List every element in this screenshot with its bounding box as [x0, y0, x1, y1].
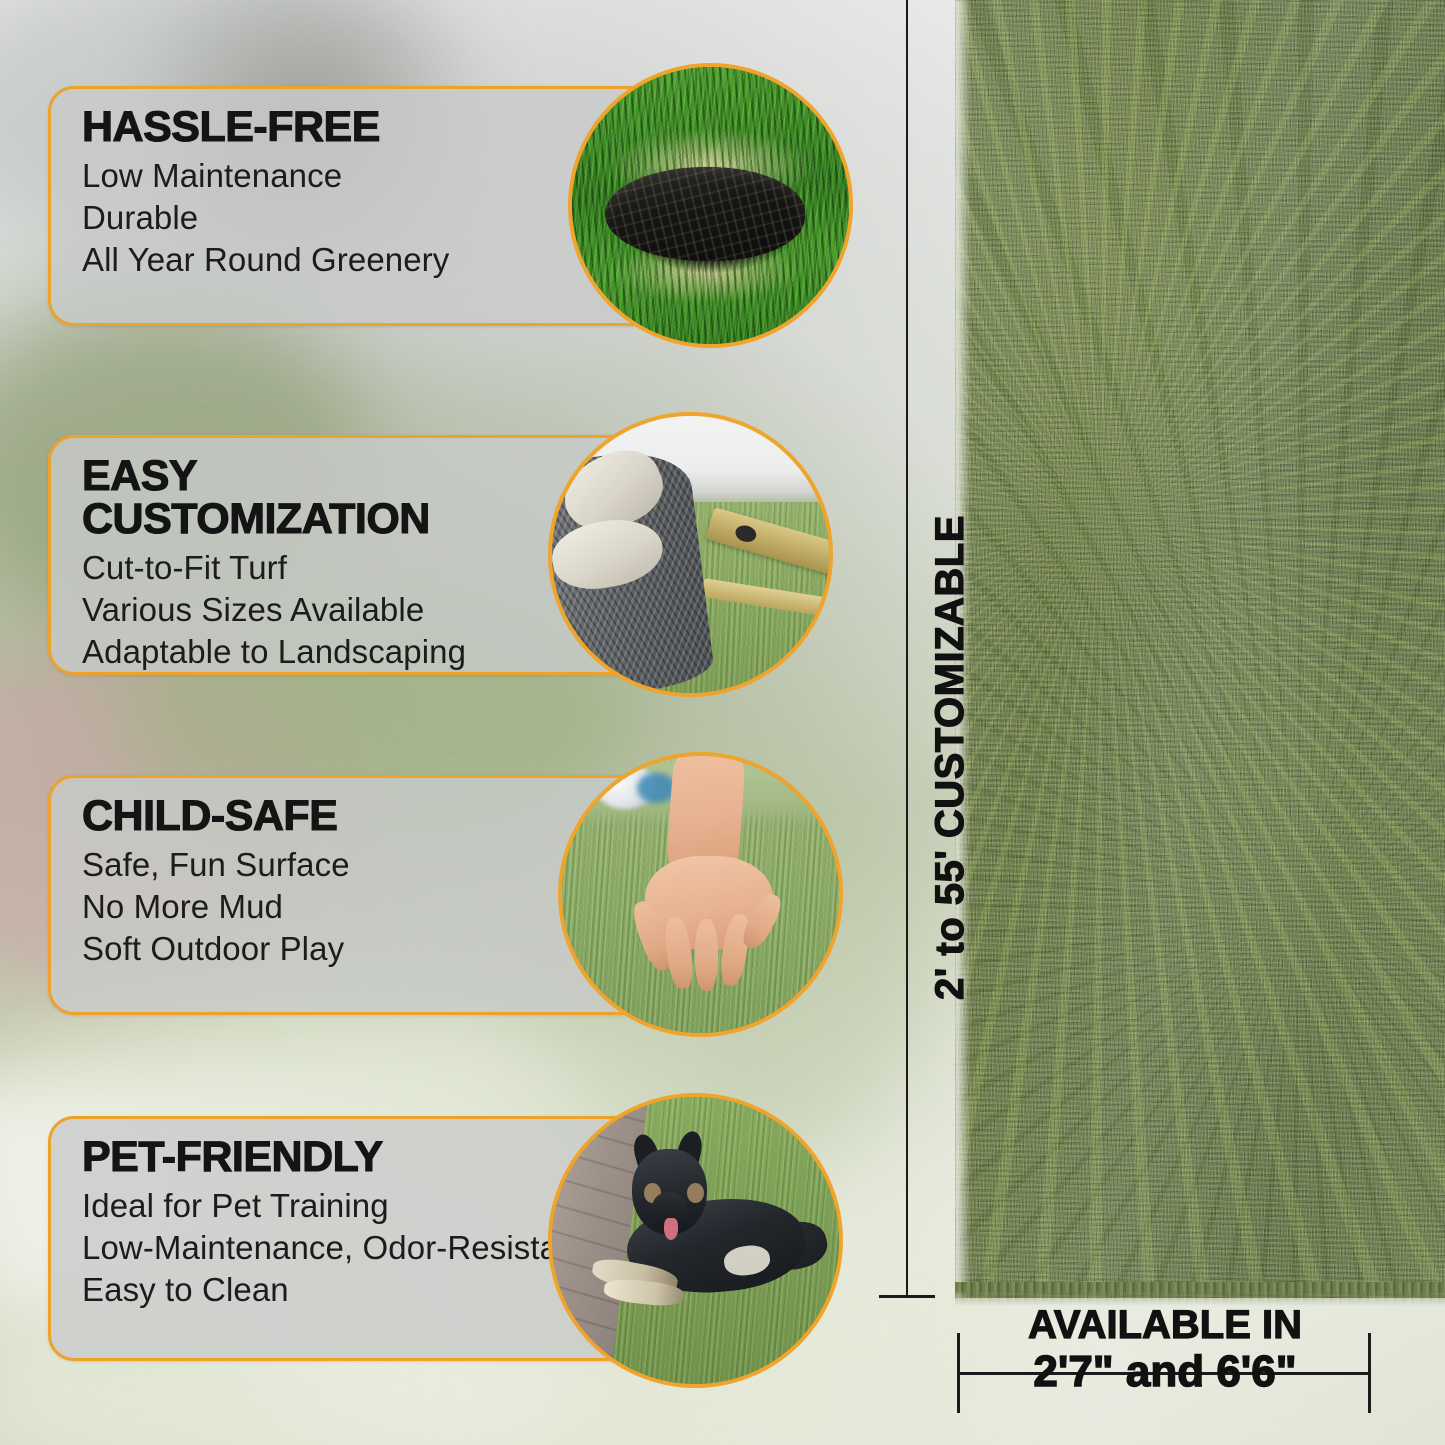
feature-bullet: Ideal for Pet Training [82, 1185, 586, 1227]
turf-strip [955, 0, 1445, 1298]
child-finger [695, 919, 719, 991]
feature-bullet: Easy to Clean [82, 1269, 586, 1311]
feature-card-text: EASY CUSTOMIZATION Cut-to-Fit Turf Vario… [82, 455, 466, 673]
available-sizes-text: 2'7" and 6'6" [1000, 1350, 1330, 1395]
feature-bullet: Durable [82, 197, 449, 239]
photo-content [572, 67, 849, 344]
infographic-canvas: 2' to 55' CUSTOMIZABLE AVAILABLE IN 2'7"… [0, 0, 1445, 1445]
width-dimension-label: AVAILABLE IN 2'7" and 6'6" [1000, 1305, 1330, 1395]
photo-content [562, 756, 839, 1033]
length-dimension-label: 2' to 55' CUSTOMIZABLE [928, 515, 973, 1000]
dog-lying-on-turf-photo [548, 1093, 843, 1388]
feature-bullet: Adaptable to Landscaping [82, 631, 466, 673]
child-hand-on-turf-photo [558, 752, 843, 1037]
feature-bullet: Soft Outdoor Play [82, 928, 350, 970]
feature-bullet-list: Low Maintenance Durable All Year Round G… [82, 155, 449, 281]
feature-card-text: PET-FRIENDLY Ideal for Pet Training Low-… [82, 1136, 586, 1311]
length-dimension-end-tick [879, 1295, 935, 1298]
length-dimension-line [906, 0, 908, 1296]
feature-title: HASSLE-FREE [82, 106, 449, 149]
feature-card-text: CHILD-SAFE Safe, Fun Surface No More Mud… [82, 795, 350, 970]
rolled-turf-backing-photo [568, 63, 853, 348]
feature-bullet: Low Maintenance [82, 155, 449, 197]
feature-bullet: All Year Round Greenery [82, 239, 449, 281]
feature-title: EASY CUSTOMIZATION [82, 455, 466, 541]
turf-speckle-overlay [955, 0, 1445, 1298]
available-in-text: AVAILABLE IN [1000, 1305, 1330, 1346]
width-dimension-left-tick [957, 1333, 960, 1413]
photo-content [552, 416, 829, 693]
feature-bullet: Safe, Fun Surface [82, 844, 350, 886]
feature-bullet-list: Cut-to-Fit Turf Various Sizes Available … [82, 547, 466, 673]
feature-title: PET-FRIENDLY [82, 1136, 586, 1179]
gloved-hands-rolling-turf-photo [548, 412, 833, 697]
feature-title: CHILD-SAFE [82, 795, 350, 838]
feature-bullet: Various Sizes Available [82, 589, 466, 631]
feature-bullet-list: Safe, Fun Surface No More Mud Soft Outdo… [82, 844, 350, 970]
feature-bullet: Low-Maintenance, Odor-Resistant [82, 1227, 586, 1269]
feature-bullet: Cut-to-Fit Turf [82, 547, 466, 589]
width-dimension-right-tick [1368, 1333, 1371, 1413]
photo-content [552, 1097, 839, 1384]
feature-bullet: No More Mud [82, 886, 350, 928]
feature-card-text: HASSLE-FREE Low Maintenance Durable All … [82, 106, 449, 281]
feature-bullet-list: Ideal for Pet Training Low-Maintenance, … [82, 1185, 586, 1311]
turf-backing-roll [605, 167, 804, 261]
